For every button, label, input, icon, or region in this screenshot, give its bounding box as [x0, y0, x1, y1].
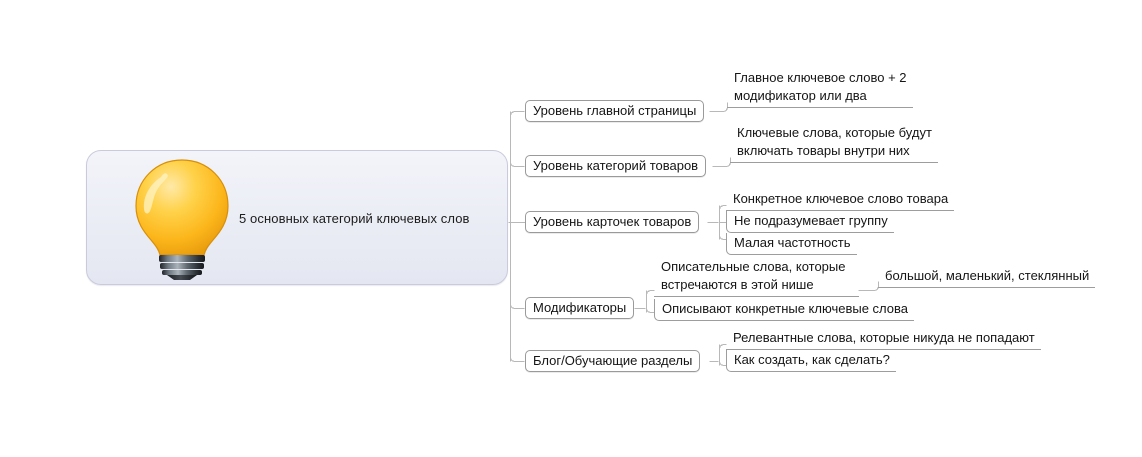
leaf-category-keywords[interactable]: Ключевые слова, которые будут включать т… [730, 123, 938, 163]
leaf-line-1: Описательные слова, которые [661, 258, 853, 276]
branch-blog-sections[interactable]: Блог/Обучающие разделы [525, 350, 700, 372]
leaf-line-2: включать товары внутри них [737, 142, 932, 160]
root-label: 5 основных категорий ключевых слов [239, 151, 497, 286]
branch-product-card-level[interactable]: Уровень карточек товаров [525, 211, 699, 233]
leaf-low-frequency[interactable]: Малая частотность [726, 233, 857, 255]
leaf-how-to-create[interactable]: Как создать, как сделать? [726, 350, 896, 372]
leaf-line-1: Ключевые слова, которые будут [737, 124, 932, 142]
leaf-line-2: встречаются в этой нише [661, 276, 853, 294]
leaf-modifier-examples[interactable]: большой, маленький, стеклянный [878, 266, 1095, 288]
leaf-specific-product-keyword[interactable]: Конкретное ключевое слово товара [726, 189, 954, 211]
leaf-relevant-words-nowhere[interactable]: Релевантные слова, которые никуда не поп… [726, 328, 1041, 350]
leaf-describe-specific-keywords[interactable]: Описывают конкретные ключевые слова [654, 299, 914, 321]
root-node[interactable]: 5 основных категорий ключевых слов [86, 150, 508, 285]
branch-modifiers[interactable]: Модификаторы [525, 297, 634, 319]
leaf-homepage-main-keyword[interactable]: Главное ключевое слово + 2 модификатор и… [727, 68, 913, 108]
leaf-no-group-implied[interactable]: Не подразумевает группу [726, 211, 894, 233]
branch-category-level[interactable]: Уровень категорий товаров [525, 155, 706, 177]
mindmap-canvas: 5 основных категорий ключевых слов Урове… [0, 0, 1142, 457]
leaf-line-2: модификатор или два [734, 87, 907, 105]
leaf-line-1: Главное ключевое слово + 2 [734, 69, 907, 87]
lightbulb-icon [127, 157, 237, 281]
branch-homepage-level[interactable]: Уровень главной страницы [525, 100, 704, 122]
leaf-descriptive-words-niche[interactable]: Описательные слова, которые встречаются … [654, 257, 859, 297]
